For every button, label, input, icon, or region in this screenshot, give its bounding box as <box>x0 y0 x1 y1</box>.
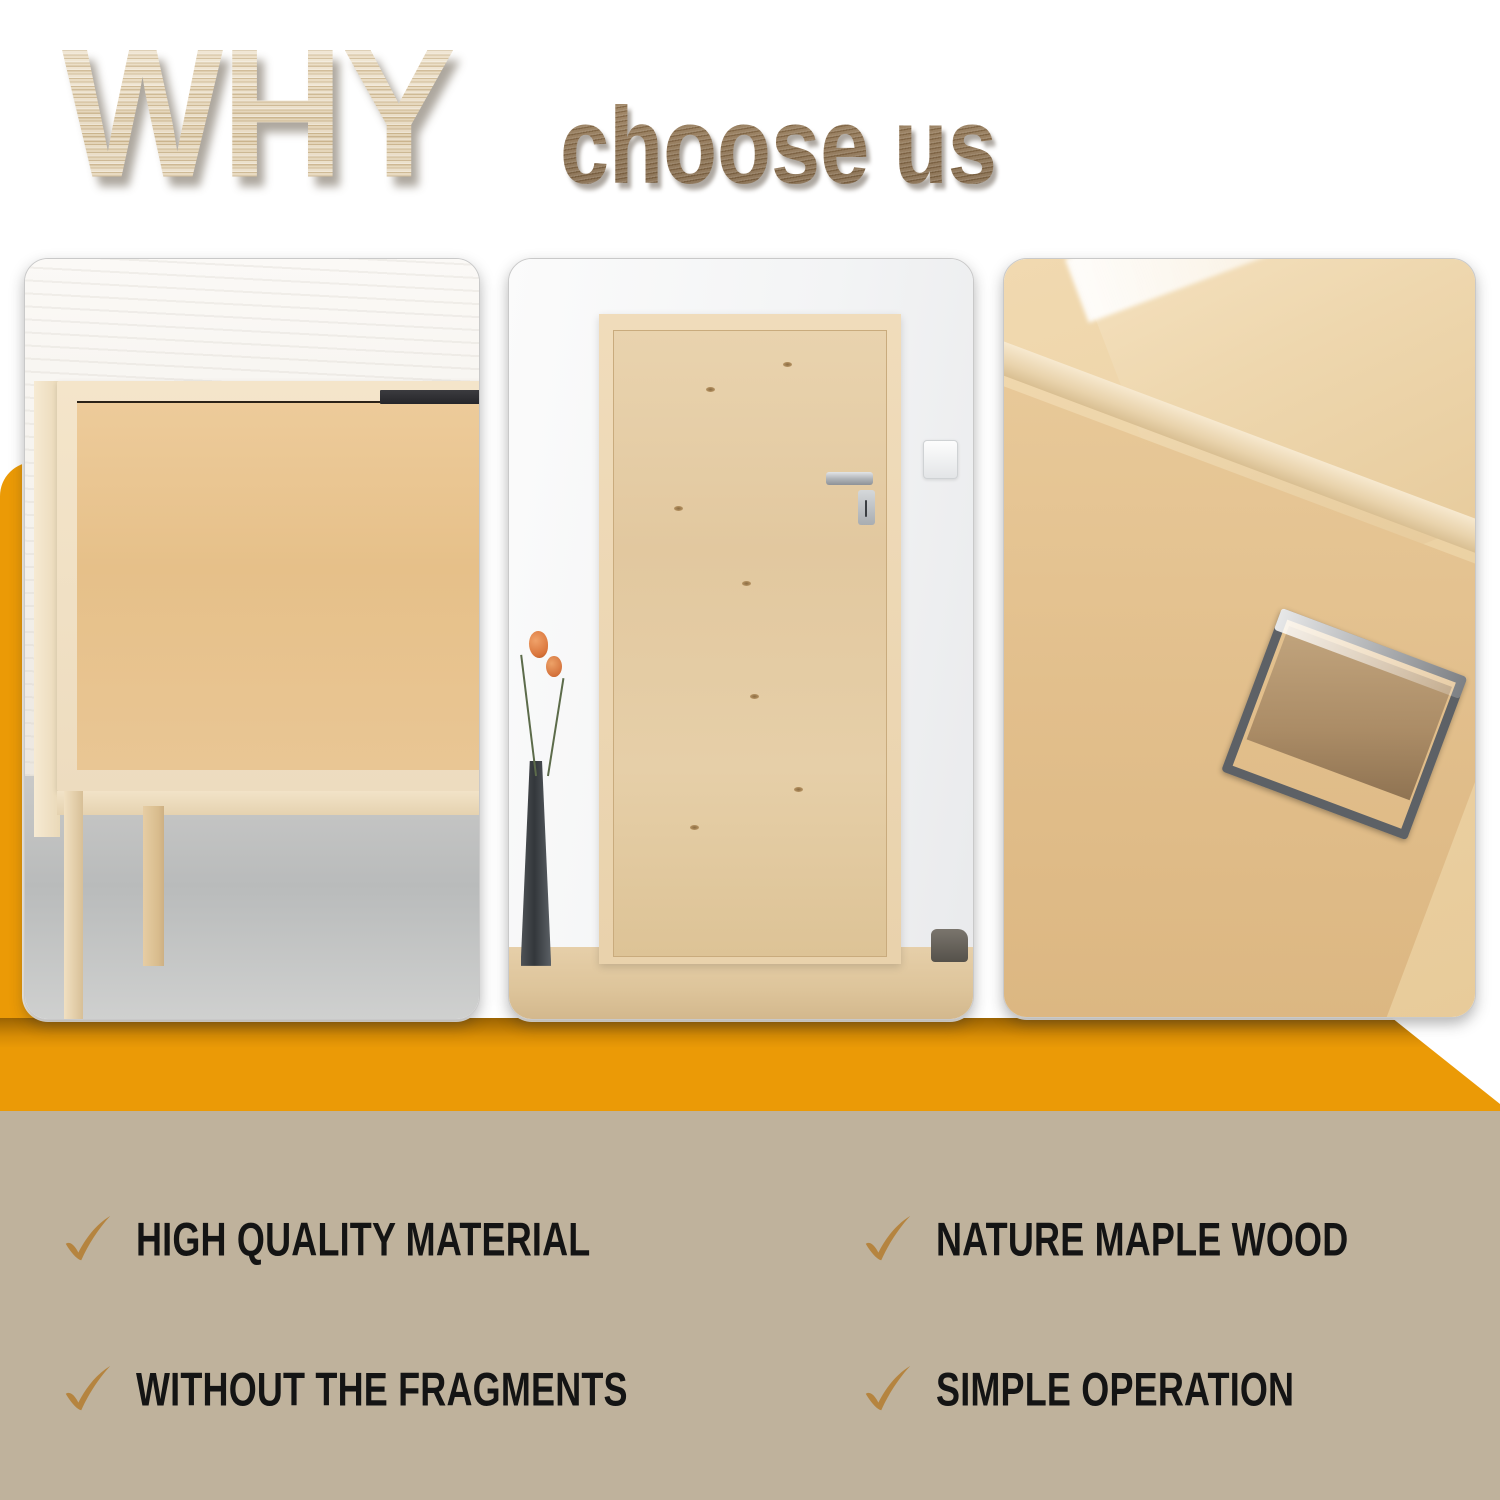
check-icon <box>60 1361 118 1419</box>
gallery-card-cabinet[interactable] <box>24 258 480 1020</box>
wood-knot-icon <box>674 506 683 511</box>
feature-item-nature-maple-wood: NATURE MAPLE WOOD <box>860 1211 1394 1269</box>
feature-item-without-the-fragments: WITHOUT THE FRAGMENTS <box>60 1361 682 1419</box>
door-lock-icon <box>858 490 876 524</box>
feature-label: HIGH QUALITY MATERIAL <box>136 1214 590 1266</box>
features-panel: HIGH QUALITY MATERIAL NATURE MAPLE WOOD … <box>0 1111 1500 1500</box>
cabinet-leg-left <box>64 791 83 1019</box>
check-icon <box>860 1361 918 1419</box>
drawer-front <box>77 401 480 770</box>
orange-accent-band <box>0 1018 1500 1111</box>
door-photo <box>509 259 973 1019</box>
page-title-primary: WHY <box>62 22 454 206</box>
wood-knot-icon <box>750 694 759 699</box>
feature-label: SIMPLE OPERATION <box>936 1364 1294 1416</box>
poppy-flower-icon <box>529 631 548 658</box>
cabinet-leg-middle <box>143 806 164 966</box>
wood-knot-icon <box>706 387 715 392</box>
wood-knot-icon <box>742 581 751 586</box>
gallery-card-door[interactable] <box>508 258 974 1020</box>
feature-label: WITHOUT THE FRAGMENTS <box>136 1364 628 1416</box>
feature-item-high-quality-material: HIGH QUALITY MATERIAL <box>60 1211 641 1269</box>
feature-label: NATURE MAPLE WOOD <box>936 1214 1348 1266</box>
header: WHY choose us <box>0 0 1500 240</box>
gallery-card-corner[interactable] <box>1003 258 1476 1018</box>
feature-item-simple-operation: SIMPLE OPERATION <box>860 1361 1334 1419</box>
wood-knot-icon <box>690 825 699 830</box>
page-title-secondary: choose us <box>560 92 997 201</box>
cabinet-photo <box>25 259 479 1019</box>
door-panel <box>613 330 887 957</box>
wood-knot-icon <box>783 362 792 367</box>
check-icon <box>860 1211 918 1269</box>
features-grid: HIGH QUALITY MATERIAL NATURE MAPLE WOOD … <box>0 1111 1500 1500</box>
check-icon <box>60 1211 118 1269</box>
cabinet-bottom-rail <box>57 791 480 815</box>
light-switch-icon <box>923 440 958 480</box>
door-lever-handle-icon <box>826 472 872 485</box>
floor-object <box>931 929 968 962</box>
door-frame <box>599 314 901 964</box>
cabinet-body <box>57 381 480 791</box>
wood-knot-icon <box>794 787 803 792</box>
corner-closeup-photo <box>1004 259 1475 1017</box>
poppy-flower-icon <box>546 656 562 677</box>
cabinet-side-panel <box>34 381 59 837</box>
drawer-handle-icon <box>380 390 480 404</box>
infographic-stage: WHY choose us <box>0 0 1500 1500</box>
